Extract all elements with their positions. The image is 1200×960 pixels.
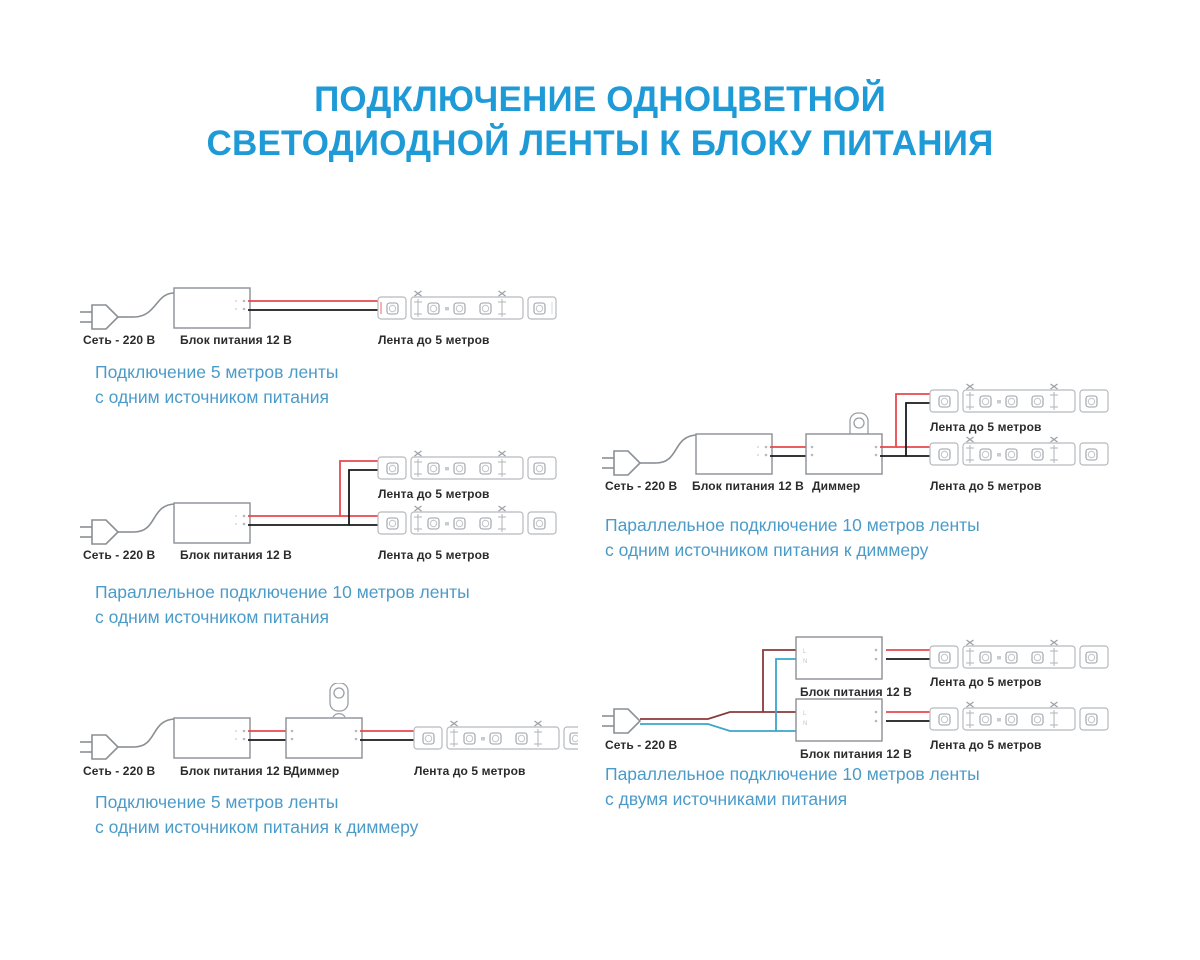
mains-plug-icon [602,709,640,733]
mains-plug-icon [80,305,134,329]
label-power-supply: Блок питания 12 В [692,479,804,493]
label-power-supply: Блок питания 12 В [180,333,292,347]
mains-plug-icon [602,451,656,475]
diagram-parallel-two-strips-two-psu: L N L N [600,625,1120,760]
caption-2-line1: Параллельное подключение 10 метров ленты [95,580,470,605]
diagram-parallel-two-strips-single-psu: Лента до 5 метров Сеть - 220 В Блок пита… [78,443,578,568]
wire-negative-branch [880,403,930,456]
power-supply-box [796,637,882,679]
label-power-supply: Блок питания 12 В [800,685,912,699]
label-led-strip: Лента до 5 метров [930,738,1042,752]
mains-plug-icon [80,520,134,544]
terminal-label-neutral: N [803,721,807,727]
scissors-cut-icon [451,721,542,726]
mains-plug-icon [80,735,134,759]
page-title-line2: СВЕТОДИОДНОЙ ЛЕНТЫ К БЛОКУ ПИТАНИЯ [0,122,1200,166]
label-mains: Сеть - 220 В [605,479,677,493]
label-power-supply: Блок питания 12 В [180,548,292,562]
led-strip [930,640,1108,668]
caption-5-line2: с двумя источниками питания [605,787,980,812]
label-led-strip: Лента до 5 метров [378,333,490,347]
scissors-cut-icon [415,451,506,456]
caption-diagram-3: Подключение 5 метров ленты с одним источ… [95,790,418,840]
caption-5-line1: Параллельное подключение 10 метров ленты [605,762,980,787]
power-supply-box [696,434,772,474]
led-strip [378,506,556,534]
wire-positive-branch [880,394,930,447]
label-led-strip: Лента до 5 метров [930,479,1042,493]
diagram-single-strip-psu-dimmer: Сеть - 220 В Блок питания 12 В Диммер Ле… [78,683,578,783]
caption-3-line2: с одним источником питания к диммеру [95,815,418,840]
led-strip [930,702,1108,730]
diagram-parallel-two-strips-psu-dimmer: Лента до 5 метров Сеть - 220 В Блок пита… [600,368,1120,498]
scissors-cut-icon [967,437,1058,442]
power-supply-box [174,503,250,543]
diagram-single-strip-single-psu: Сеть - 220 В Блок питания 12 В Лента до … [78,283,578,343]
label-led-strip: Лента до 5 метров [930,420,1042,434]
caption-diagram-1: Подключение 5 метров ленты с одним источ… [95,360,338,410]
caption-4-line2: с одним источником питания к диммеру [605,538,980,563]
terminal-label-neutral: N [803,659,807,665]
label-mains: Сеть - 220 В [605,738,677,752]
led-strip [378,451,556,479]
caption-1-line1: Подключение 5 метров ленты [95,360,338,385]
scissors-cut-icon [415,291,506,296]
caption-diagram-5: Параллельное подключение 10 метров ленты… [605,762,980,812]
led-strip [414,721,578,749]
label-dimmer: Диммер [291,764,339,778]
dimmer-box [286,718,362,758]
label-dimmer: Диммер [812,479,860,493]
power-supply-box [174,718,250,758]
caption-diagram-2: Параллельное подключение 10 метров ленты… [95,580,470,630]
label-mains: Сеть - 220 В [83,764,155,778]
caption-3-line1: Подключение 5 метров ленты [95,790,418,815]
mains-wire-live [640,712,796,719]
label-mains: Сеть - 220 В [83,548,155,562]
page-title-line1: ПОДКЛЮЧЕНИЕ ОДНОЦВЕТНОЙ [0,78,1200,122]
caption-2-line2: с одним источником питания [95,605,470,630]
label-power-supply: Блок питания 12 В [180,764,292,778]
caption-1-line2: с одним источником питания [95,385,338,410]
dimmer-box [806,434,882,474]
label-power-supply: Блок питания 12 В [800,747,912,761]
mains-wire-neutral [640,724,796,731]
caption-diagram-4: Параллельное подключение 10 метров ленты… [605,513,980,563]
led-strip [378,291,556,319]
power-supply-box [796,699,882,741]
label-led-strip: Лента до 5 метров [414,764,526,778]
power-supply-box [174,288,250,328]
scissors-cut-icon [967,384,1058,389]
label-led-strip: Лента до 5 метров [378,548,490,562]
label-mains: Сеть - 220 В [83,333,155,347]
scissors-cut-icon [967,702,1058,707]
caption-4-line1: Параллельное подключение 10 метров ленты [605,513,980,538]
label-led-strip: Лента до 5 метров [378,487,490,501]
led-strip [930,437,1108,465]
label-led-strip: Лента до 5 метров [930,675,1042,689]
page-title: ПОДКЛЮЧЕНИЕ ОДНОЦВЕТНОЙ СВЕТОДИОДНОЙ ЛЕН… [0,78,1200,166]
scissors-cut-icon [967,640,1058,645]
scissors-cut-icon [415,506,506,511]
led-strip [930,384,1108,412]
mains-wire-neutral-branch [776,659,796,731]
